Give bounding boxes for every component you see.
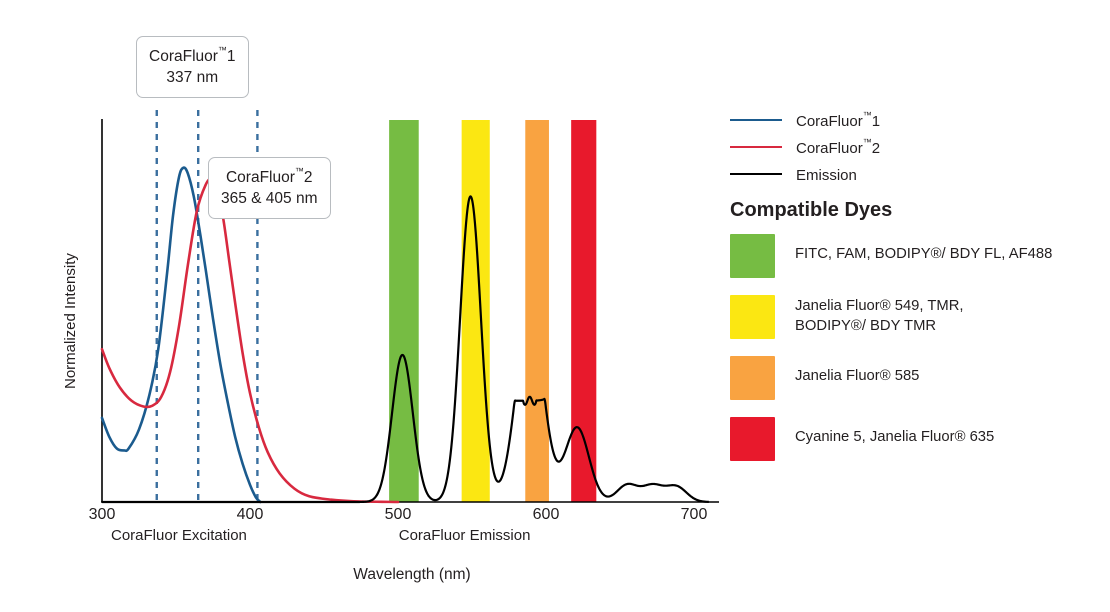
series-legend: CoraFluor™1CoraFluor™2Emission [730,106,1100,187]
callout-cf2-line2: 365 & 405 nm [221,189,318,210]
x-tick-700: 700 [681,506,708,524]
callout-corafluor2: CoraFluor™2 365 & 405 nm [208,157,331,219]
dye-label-line1: Cyanine 5, Janelia Fluor® 635 [795,428,994,448]
x-tick-600: 600 [533,506,560,524]
dye-row[interactable]: Janelia Fluor® 549, TMR,BODIPY®/ BDY TMR [730,295,1102,339]
x-tick-500: 500 [385,506,412,524]
green-band [389,120,419,502]
legend-line-swatch [730,119,782,121]
y-axis-title: Normalized Intensity [62,236,82,406]
dye-label: Cyanine 5, Janelia Fluor® 635 [795,417,994,448]
legend-label: CoraFluor™1 [796,110,880,130]
x-tick-400: 400 [237,506,264,524]
dye-color-swatch [730,295,775,339]
callout-cf1-suffix: 1 [227,48,236,65]
red-band [571,120,596,502]
legend-label-text: CoraFluor [796,140,863,157]
dye-label-line1: Janelia Fluor® 549, TMR, [795,297,964,317]
legend-label: Emission [796,164,857,184]
legend-label-text: Emission [796,167,857,184]
dye-color-swatch [730,417,775,461]
legend-line-swatch [730,146,782,148]
dye-label: Janelia Fluor® 549, TMR,BODIPY®/ BDY TMR [795,295,964,337]
legend-item-emission[interactable]: Emission [730,160,1100,187]
dye-row[interactable]: Cyanine 5, Janelia Fluor® 635 [730,417,1102,461]
dye-label-line1: Janelia Fluor® 585 [795,367,919,387]
legend-label-suffix: 2 [872,140,880,157]
callout-cf1-line2: 337 nm [149,68,236,89]
x-axis-group-excitation: CoraFluor Excitation [111,527,247,544]
compatible-dyes-title: Compatible Dyes [730,199,892,222]
trademark-icon: ™ [218,45,227,55]
callout-cf2-line1: CoraFluor [226,169,295,186]
curve-corafluor2 [102,179,398,502]
dye-label-line1: FITC, FAM, BODIPY®/ BDY FL, AF488 [795,245,1052,265]
dye-label: Janelia Fluor® 585 [795,356,919,387]
x-axis-title: Wavelength (nm) [353,566,470,584]
legend-line-swatch [730,173,782,175]
yellow-band [462,120,490,502]
x-tick-300: 300 [89,506,116,524]
figure-root: CoraFluor™1 337 nm CoraFluor™2 365 & 405… [0,0,1110,612]
legend-label: CoraFluor™2 [796,137,880,157]
trademark-icon: ™ [863,137,872,147]
dye-row[interactable]: FITC, FAM, BODIPY®/ BDY FL, AF488 [730,234,1102,278]
trademark-icon: ™ [863,110,872,120]
callout-cf2-suffix: 2 [304,169,313,186]
dye-label-line2: BODIPY®/ BDY TMR [795,317,964,337]
dye-label: FITC, FAM, BODIPY®/ BDY FL, AF488 [795,234,1052,265]
trademark-icon: ™ [295,166,304,176]
legend-item-corafluor2[interactable]: CoraFluor™2 [730,133,1100,160]
callout-corafluor1: CoraFluor™1 337 nm [136,36,249,98]
compatible-dyes-list: FITC, FAM, BODIPY®/ BDY FL, AF488Janelia… [730,234,1102,478]
dye-row[interactable]: Janelia Fluor® 585 [730,356,1102,400]
x-axis-group-emission: CoraFluor Emission [399,527,531,544]
dye-color-swatch [730,356,775,400]
legend-label-text: CoraFluor [796,113,863,130]
legend-item-corafluor1[interactable]: CoraFluor™1 [730,106,1100,133]
orange-band [525,120,549,502]
legend-label-suffix: 1 [872,113,880,130]
dye-color-swatch [730,234,775,278]
callout-cf1-line1: CoraFluor [149,48,218,65]
